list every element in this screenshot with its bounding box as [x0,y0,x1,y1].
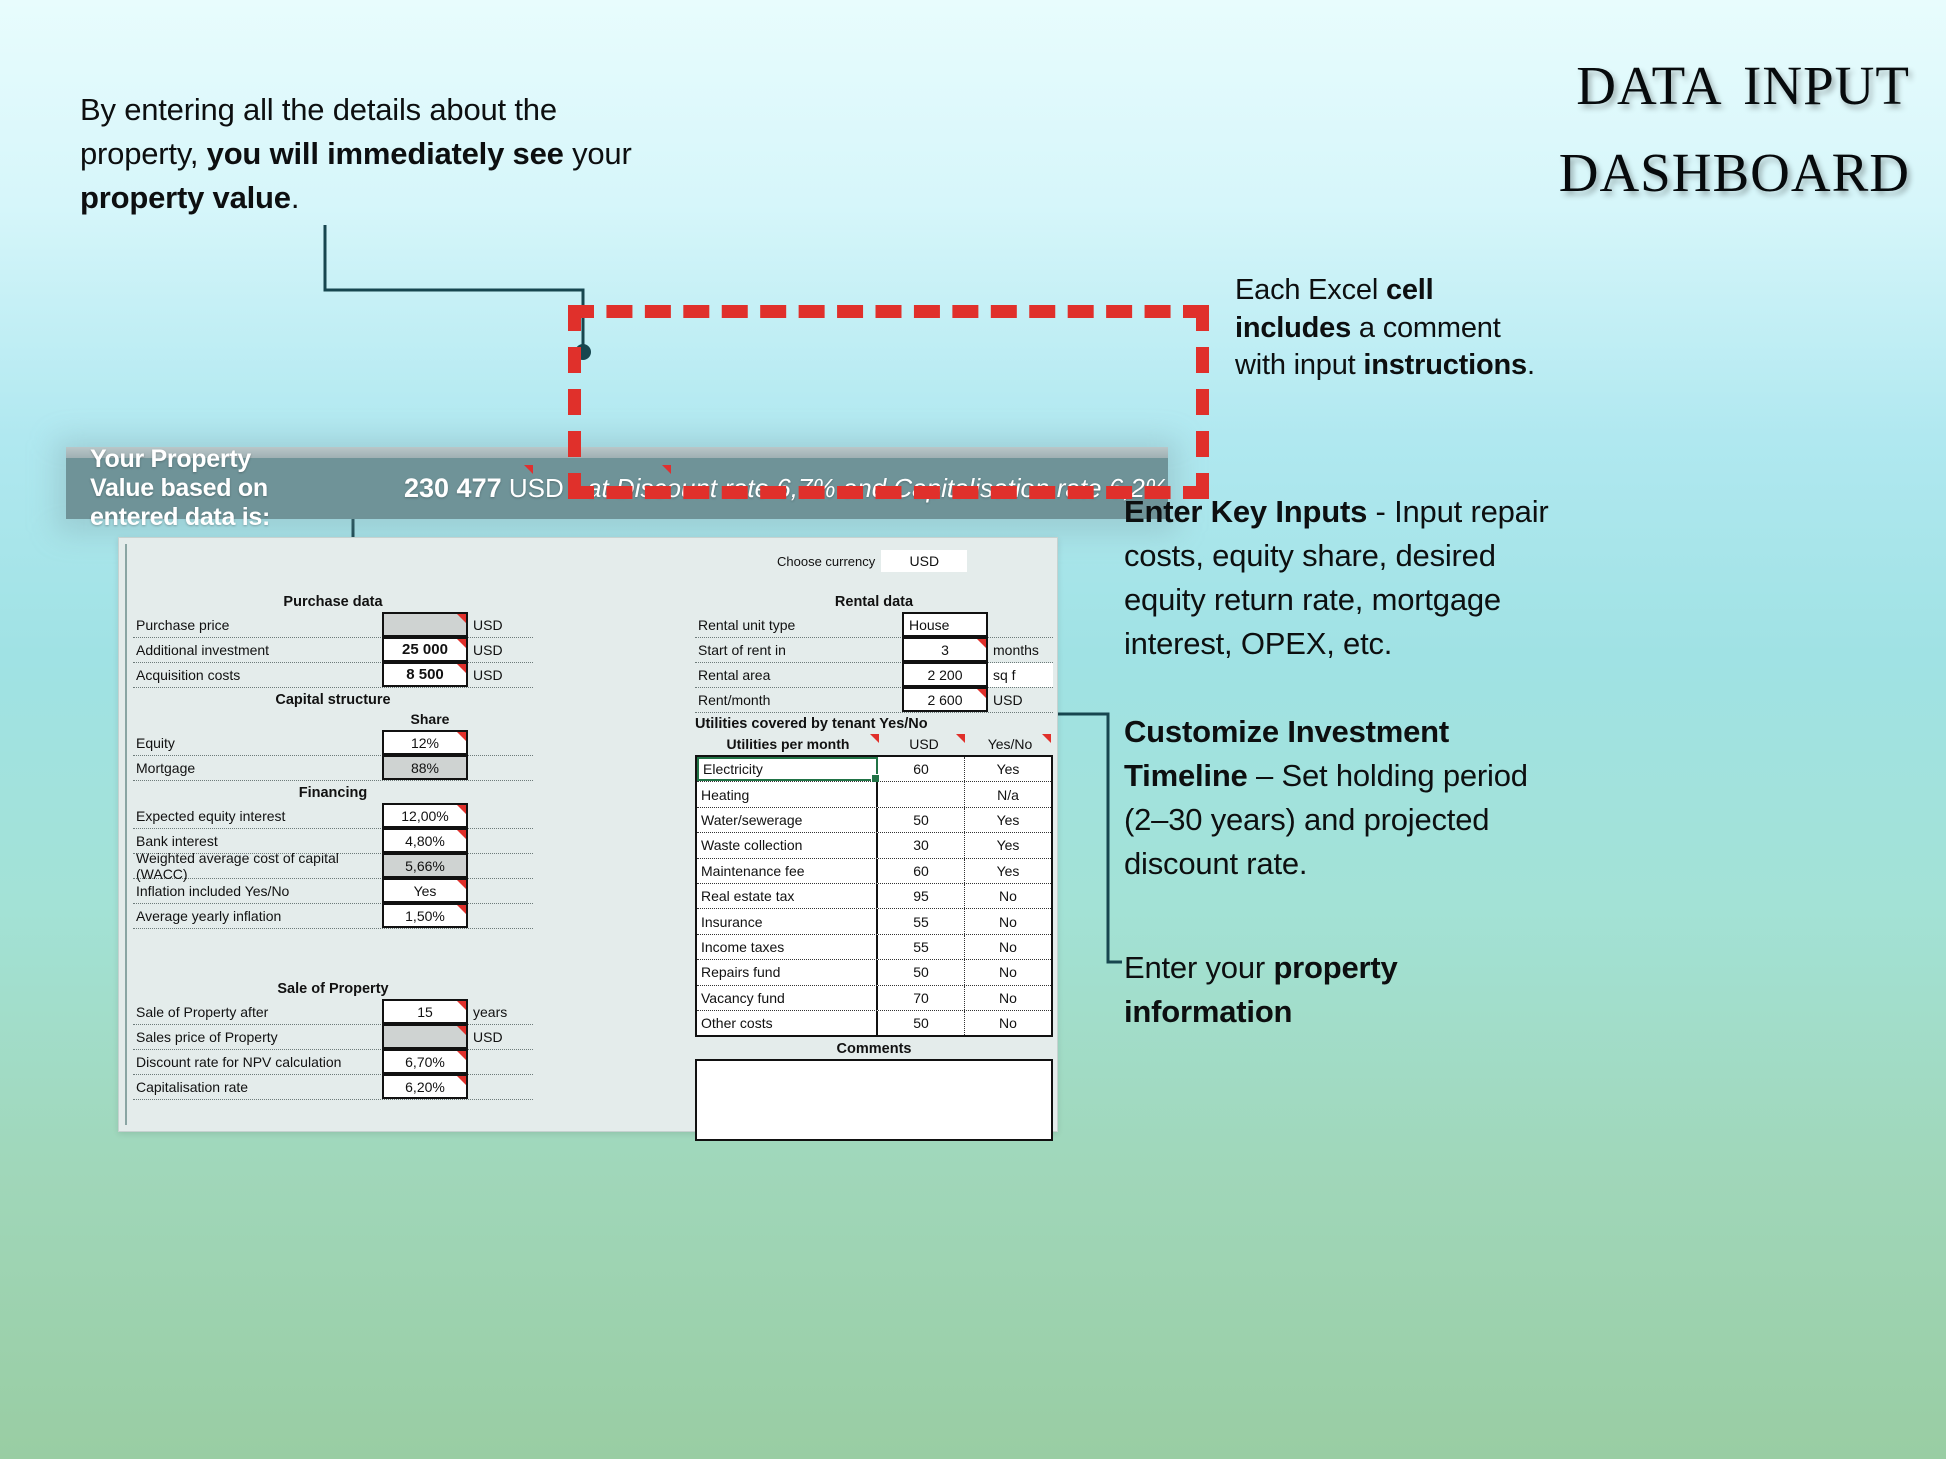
utility-name-cell[interactable]: Electricity [697,757,878,781]
utility-yesno-cell[interactable]: No [965,1011,1051,1035]
utility-yesno-cell[interactable]: No [965,986,1051,1010]
input-cell[interactable] [382,612,468,637]
row-unit: USD [468,613,533,637]
utilities-header-yesno: Yes/No [967,736,1053,752]
row-unit [468,756,533,780]
row-label: Mortgage [133,756,382,780]
left-spacer2 [133,953,533,977]
utility-amount-cell[interactable]: 60 [878,859,965,883]
utility-name-cell[interactable]: Waste collection [697,833,878,857]
row-unit [468,904,533,928]
utility-amount-cell[interactable]: 30 [878,833,965,857]
input-cell[interactable]: House [902,612,988,637]
rental-data-rows: Rental unit typeHouseStart of rent in3mo… [695,613,1053,713]
row-label: Average yearly inflation [133,904,382,928]
left-column: Purchase data Purchase priceUSDAdditiona… [133,590,533,1100]
table-row: Rent/month2 600USD [695,688,1053,713]
purchase-data-title: Purchase data [133,594,533,610]
utilities-row: Maintenance fee60Yes [697,859,1051,884]
table-row: Inflation included Yes/NoYes [133,879,533,904]
utility-amount-cell[interactable]: 50 [878,960,965,984]
input-cell[interactable]: 15 [382,999,468,1024]
utilities-row: Other costs50No [697,1011,1051,1035]
left-spacer [133,929,533,953]
utilities-row: Water/sewerage50Yes [697,808,1051,833]
row-unit [468,804,533,828]
utilities-header-name: Utilities per month [695,736,881,752]
right-column: Rental data Rental unit typeHouseStart o… [695,590,1053,1141]
comment-marker-icon [457,664,466,673]
input-cell[interactable]: 3 [902,637,988,662]
utility-yesno-cell[interactable]: No [965,884,1051,908]
comment-marker-icon [457,830,466,839]
comment-marker-icon [457,732,466,741]
utility-yesno-cell[interactable]: No [965,960,1051,984]
input-cell[interactable]: 12% [382,730,468,755]
comment-marker-icon [457,905,466,914]
utility-amount-cell[interactable]: 50 [878,1011,965,1035]
utilities-row: Electricity60Yes [697,757,1051,782]
table-row: Equity12% [133,731,533,756]
input-cell[interactable]: 2 200 [902,662,988,687]
table-row: Sales price of PropertyUSD [133,1025,533,1050]
comment-marker-icon [457,880,466,889]
table-row: Capitalisation rate6,20% [133,1075,533,1100]
comment-marker-icon [457,1051,466,1060]
enter-key-inputs-heading: Enter Key Inputs [1124,494,1367,529]
sale-of-property-title: Sale of Property [133,981,533,997]
utility-name-cell[interactable]: Other costs [697,1011,878,1035]
utility-amount-cell[interactable]: 70 [878,986,965,1010]
capital-structure-title: Capital structure [133,692,533,708]
utilities-row: Real estate tax95No [697,884,1051,909]
table-row: Discount rate for NPV calculation6,70% [133,1050,533,1075]
row-unit [468,1050,533,1074]
comment-marker-icon [457,805,466,814]
table-row: Rental unit typeHouse [695,613,1053,638]
row-label: Acquisition costs [133,663,382,687]
utility-name-cell[interactable]: Maintenance fee [697,859,878,883]
row-label: Inflation included Yes/No [133,879,382,903]
utility-amount-cell[interactable]: 55 [878,909,965,933]
table-row: Average yearly inflation1,50% [133,904,533,929]
choose-currency-row: Choose currency USD [777,550,967,572]
utilities-row: HeatingN/a [697,782,1051,807]
share-header-row: Share [133,711,533,731]
row-label: Additional investment [133,638,382,662]
banner-value: 230 477 [404,473,502,503]
rental-data-title: Rental data [695,594,1053,610]
comments-title: Comments [695,1041,1053,1057]
input-cell[interactable]: 12,00% [382,803,468,828]
table-row: Start of rent in3months [695,638,1053,663]
comment-marker-icon [977,689,986,698]
row-unit: USD [988,688,1053,712]
enter-property-part1: Enter your [1124,950,1273,985]
row-label: Weighted average cost of capital (WACC) [133,854,382,878]
row-label: Rental area [695,663,902,687]
highlight-box [568,305,1209,499]
row-unit: sq f [988,663,1053,687]
row-label: Start of rent in [695,638,902,662]
utility-name-cell[interactable]: Insurance [697,909,878,933]
choose-currency-label: Choose currency [777,554,875,569]
banner-label: Your Property Value based on entered dat… [90,445,299,532]
share-header-label: Share [387,711,473,731]
table-row: Rental area2 200sq f [695,663,1053,688]
utilities-row: Waste collection30Yes [697,833,1051,858]
comment-marker-icon [956,734,965,743]
utility-amount-cell[interactable]: 50 [878,808,965,832]
utility-yesno-cell[interactable]: No [965,909,1051,933]
input-cell[interactable]: 4,80% [382,828,468,853]
row-unit [468,829,533,853]
utility-name-cell[interactable]: Water/sewerage [697,808,878,832]
utility-amount-cell[interactable]: 95 [878,884,965,908]
table-row: Mortgage88% [133,756,533,781]
input-cell[interactable]: 5,66% [382,853,468,878]
utilities-table: Electricity60YesHeatingN/aWater/sewerage… [695,755,1053,1037]
comment-marker-icon [457,1076,466,1085]
table-row: Expected equity interest12,00% [133,804,533,829]
row-unit: months [988,638,1053,662]
utility-yesno-cell[interactable]: Yes [965,808,1051,832]
utility-name-cell[interactable]: Income taxes [697,935,878,959]
row-unit: years [468,1000,533,1024]
row-label: Discount rate for NPV calculation [133,1050,382,1074]
comment-marker-icon [457,639,466,648]
row-label: Purchase price [133,613,382,637]
utility-name-cell[interactable]: Heating [697,782,878,806]
table-row: Weighted average cost of capital (WACC)5… [133,854,533,879]
row-unit [468,731,533,755]
table-row: Acquisition costs8 500USD [133,663,533,688]
sale-of-property-rows: Sale of Property after15yearsSales price… [133,1000,533,1100]
utility-yesno-cell[interactable]: Yes [965,859,1051,883]
row-unit: USD [468,663,533,687]
utility-yesno-cell[interactable]: Yes [965,833,1051,857]
row-label: Rent/month [695,688,902,712]
input-cell[interactable]: 2 600 [902,687,988,712]
row-unit: USD [468,1025,533,1049]
input-cell[interactable]: 6,70% [382,1049,468,1074]
spreadsheet-panel: Choose currency USD Purchase data Purcha… [118,537,1058,1132]
choose-currency-select[interactable]: USD [881,550,967,572]
input-cell[interactable]: 1,50% [382,903,468,928]
row-unit [468,1075,533,1099]
table-row: Purchase priceUSD [133,613,533,638]
utility-yesno-cell[interactable]: N/a [965,782,1051,806]
annotation-excel-comment: Each Excel cell includes a comment with … [1235,272,1535,385]
input-cell[interactable] [382,1024,468,1049]
utility-name-cell[interactable]: Repairs fund [697,960,878,984]
utilities-row: Repairs fund50No [697,960,1051,985]
row-unit: USD [468,638,533,662]
row-label: Rental unit type [695,613,902,637]
table-row: Additional investment25 000USD [133,638,533,663]
utilities-row: Income taxes55No [697,935,1051,960]
comments-textarea[interactable] [695,1059,1053,1141]
connector-intro-to-banner [325,225,583,345]
comment-marker-icon [457,1001,466,1010]
excel-comment-bold2: instructions [1363,349,1527,381]
utility-amount-cell[interactable]: 55 [878,935,965,959]
row-label: Equity [133,731,382,755]
row-label: Sale of Property after [133,1000,382,1024]
utilities-header-row: Utilities per month USD Yes/No [695,733,1053,755]
comment-marker-icon [870,734,879,743]
comment-marker-icon [457,614,466,623]
input-cell[interactable]: 6,20% [382,1074,468,1099]
financing-rows: Expected equity interest12,00%Bank inter… [133,804,533,929]
row-label: Expected equity interest [133,804,382,828]
purchase-data-rows: Purchase priceUSDAdditional investment25… [133,613,533,688]
row-unit [988,613,1053,637]
table-row: Sale of Property after15years [133,1000,533,1025]
input-cell[interactable]: Yes [382,878,468,903]
utility-amount-cell[interactable]: 60 [878,757,965,781]
input-cell[interactable]: 8 500 [382,662,468,687]
input-cell[interactable]: 88% [382,755,468,780]
row-label: Capitalisation rate [133,1075,382,1099]
spreadsheet-inner: Choose currency USD Purchase data Purcha… [125,544,1051,1125]
excel-comment-part1: Each Excel [1235,274,1386,306]
annotation-enter-property-info: Enter your property information [1124,946,1544,1034]
row-unit [468,879,533,903]
utility-name-cell[interactable]: Vacancy fund [697,986,878,1010]
annotation-enter-key-inputs: Enter Key Inputs - Input repair costs, e… [1124,490,1564,666]
comment-marker-icon [1042,734,1051,743]
row-label: Sales price of Property [133,1025,382,1049]
utilities-header-usd: USD [881,736,967,752]
utility-yesno-cell[interactable]: Yes [965,757,1051,781]
utilities-row: Insurance55No [697,909,1051,934]
utility-amount-cell[interactable] [878,782,965,806]
row-unit [468,854,533,878]
annotation-customize-timeline: Customize Investment Timeline – Set hold… [1124,710,1564,886]
excel-comment-part3: . [1527,349,1535,381]
capital-structure-rows: Equity12%Mortgage88% [133,731,533,781]
comment-marker-icon [977,639,986,648]
utility-yesno-cell[interactable]: No [965,935,1051,959]
utility-name-cell[interactable]: Real estate tax [697,884,878,908]
banner-currency: USD [509,473,564,503]
comment-marker-icon [457,1026,466,1035]
financing-title: Financing [133,785,533,801]
utilities-row: Vacancy fund70No [697,986,1051,1011]
utilities-title: Utilities covered by tenant Yes/No [695,716,1053,732]
input-cell[interactable]: 25 000 [382,637,468,662]
